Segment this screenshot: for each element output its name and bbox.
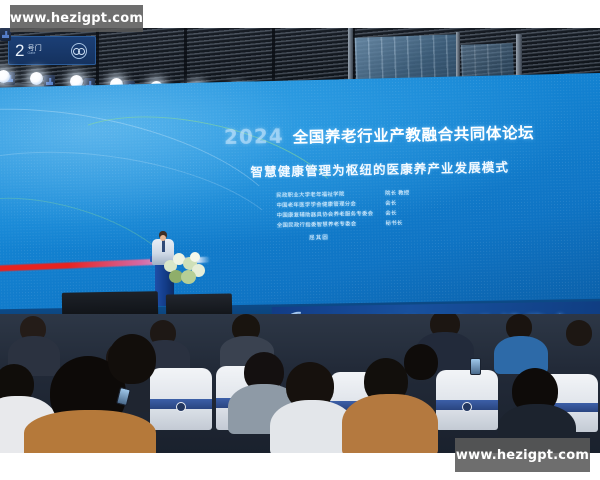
speaker-credentials: 民政职业大学老年福祉学院 院长 教授 中国老年医学学会健康管理分会 会长 中国康… xyxy=(276,187,561,231)
gate-label-en: Gate xyxy=(27,52,42,55)
audience-chair xyxy=(436,370,498,430)
chair-sash-knot xyxy=(176,402,186,412)
audience-person xyxy=(342,394,438,453)
watermark-bottom: www.hezigpt.com xyxy=(455,438,590,472)
audience-area xyxy=(0,314,600,453)
audience-person xyxy=(24,410,156,453)
credential-role: 会长 xyxy=(385,199,410,208)
speaker-face xyxy=(160,235,166,241)
watermark-top: www.hezigpt.com xyxy=(10,5,143,32)
forum-subtitle: 智慧健康管理为枢纽的医康养产业发展模式 xyxy=(200,156,560,182)
credential-role: 秘书长 xyxy=(385,219,410,228)
chair-sash-knot xyxy=(462,402,472,412)
podium-flowers xyxy=(164,250,208,286)
audience-head xyxy=(108,334,156,384)
audience-head xyxy=(404,344,438,380)
audience-chair xyxy=(150,368,212,430)
gate-number: 2 xyxy=(15,42,24,59)
gate-sign: 2 号门 Gate xyxy=(8,36,96,65)
credential-role: 院长 教授 xyxy=(385,189,410,198)
smartphone xyxy=(470,358,481,375)
forum-year: 2024 xyxy=(224,124,284,149)
screenshot-root: 2 号门 Gate xyxy=(0,0,600,480)
audience-head xyxy=(566,320,592,346)
credential-org: 中国康复辅助器具协会养老服务专委会 xyxy=(277,210,374,221)
forum-title: 全国养老行业产教融合共同体论坛 xyxy=(292,121,534,148)
credential-org: 民政职业大学老年福祉学院 xyxy=(276,190,373,201)
spotlight xyxy=(30,72,43,85)
credential-org: 中国老年医学学会健康管理分会 xyxy=(276,200,373,211)
credential-org: 全国民政行指委智慧养老专委会 xyxy=(277,220,374,231)
conference-photo: 2 号门 Gate xyxy=(0,28,600,453)
credential-role: 会长 xyxy=(385,209,410,218)
screen-text-block: 2024 全国养老行业产教融合共同体论坛 智慧健康管理为枢纽的医康养产业发展模式… xyxy=(199,119,561,244)
restroom-icon xyxy=(71,43,87,59)
